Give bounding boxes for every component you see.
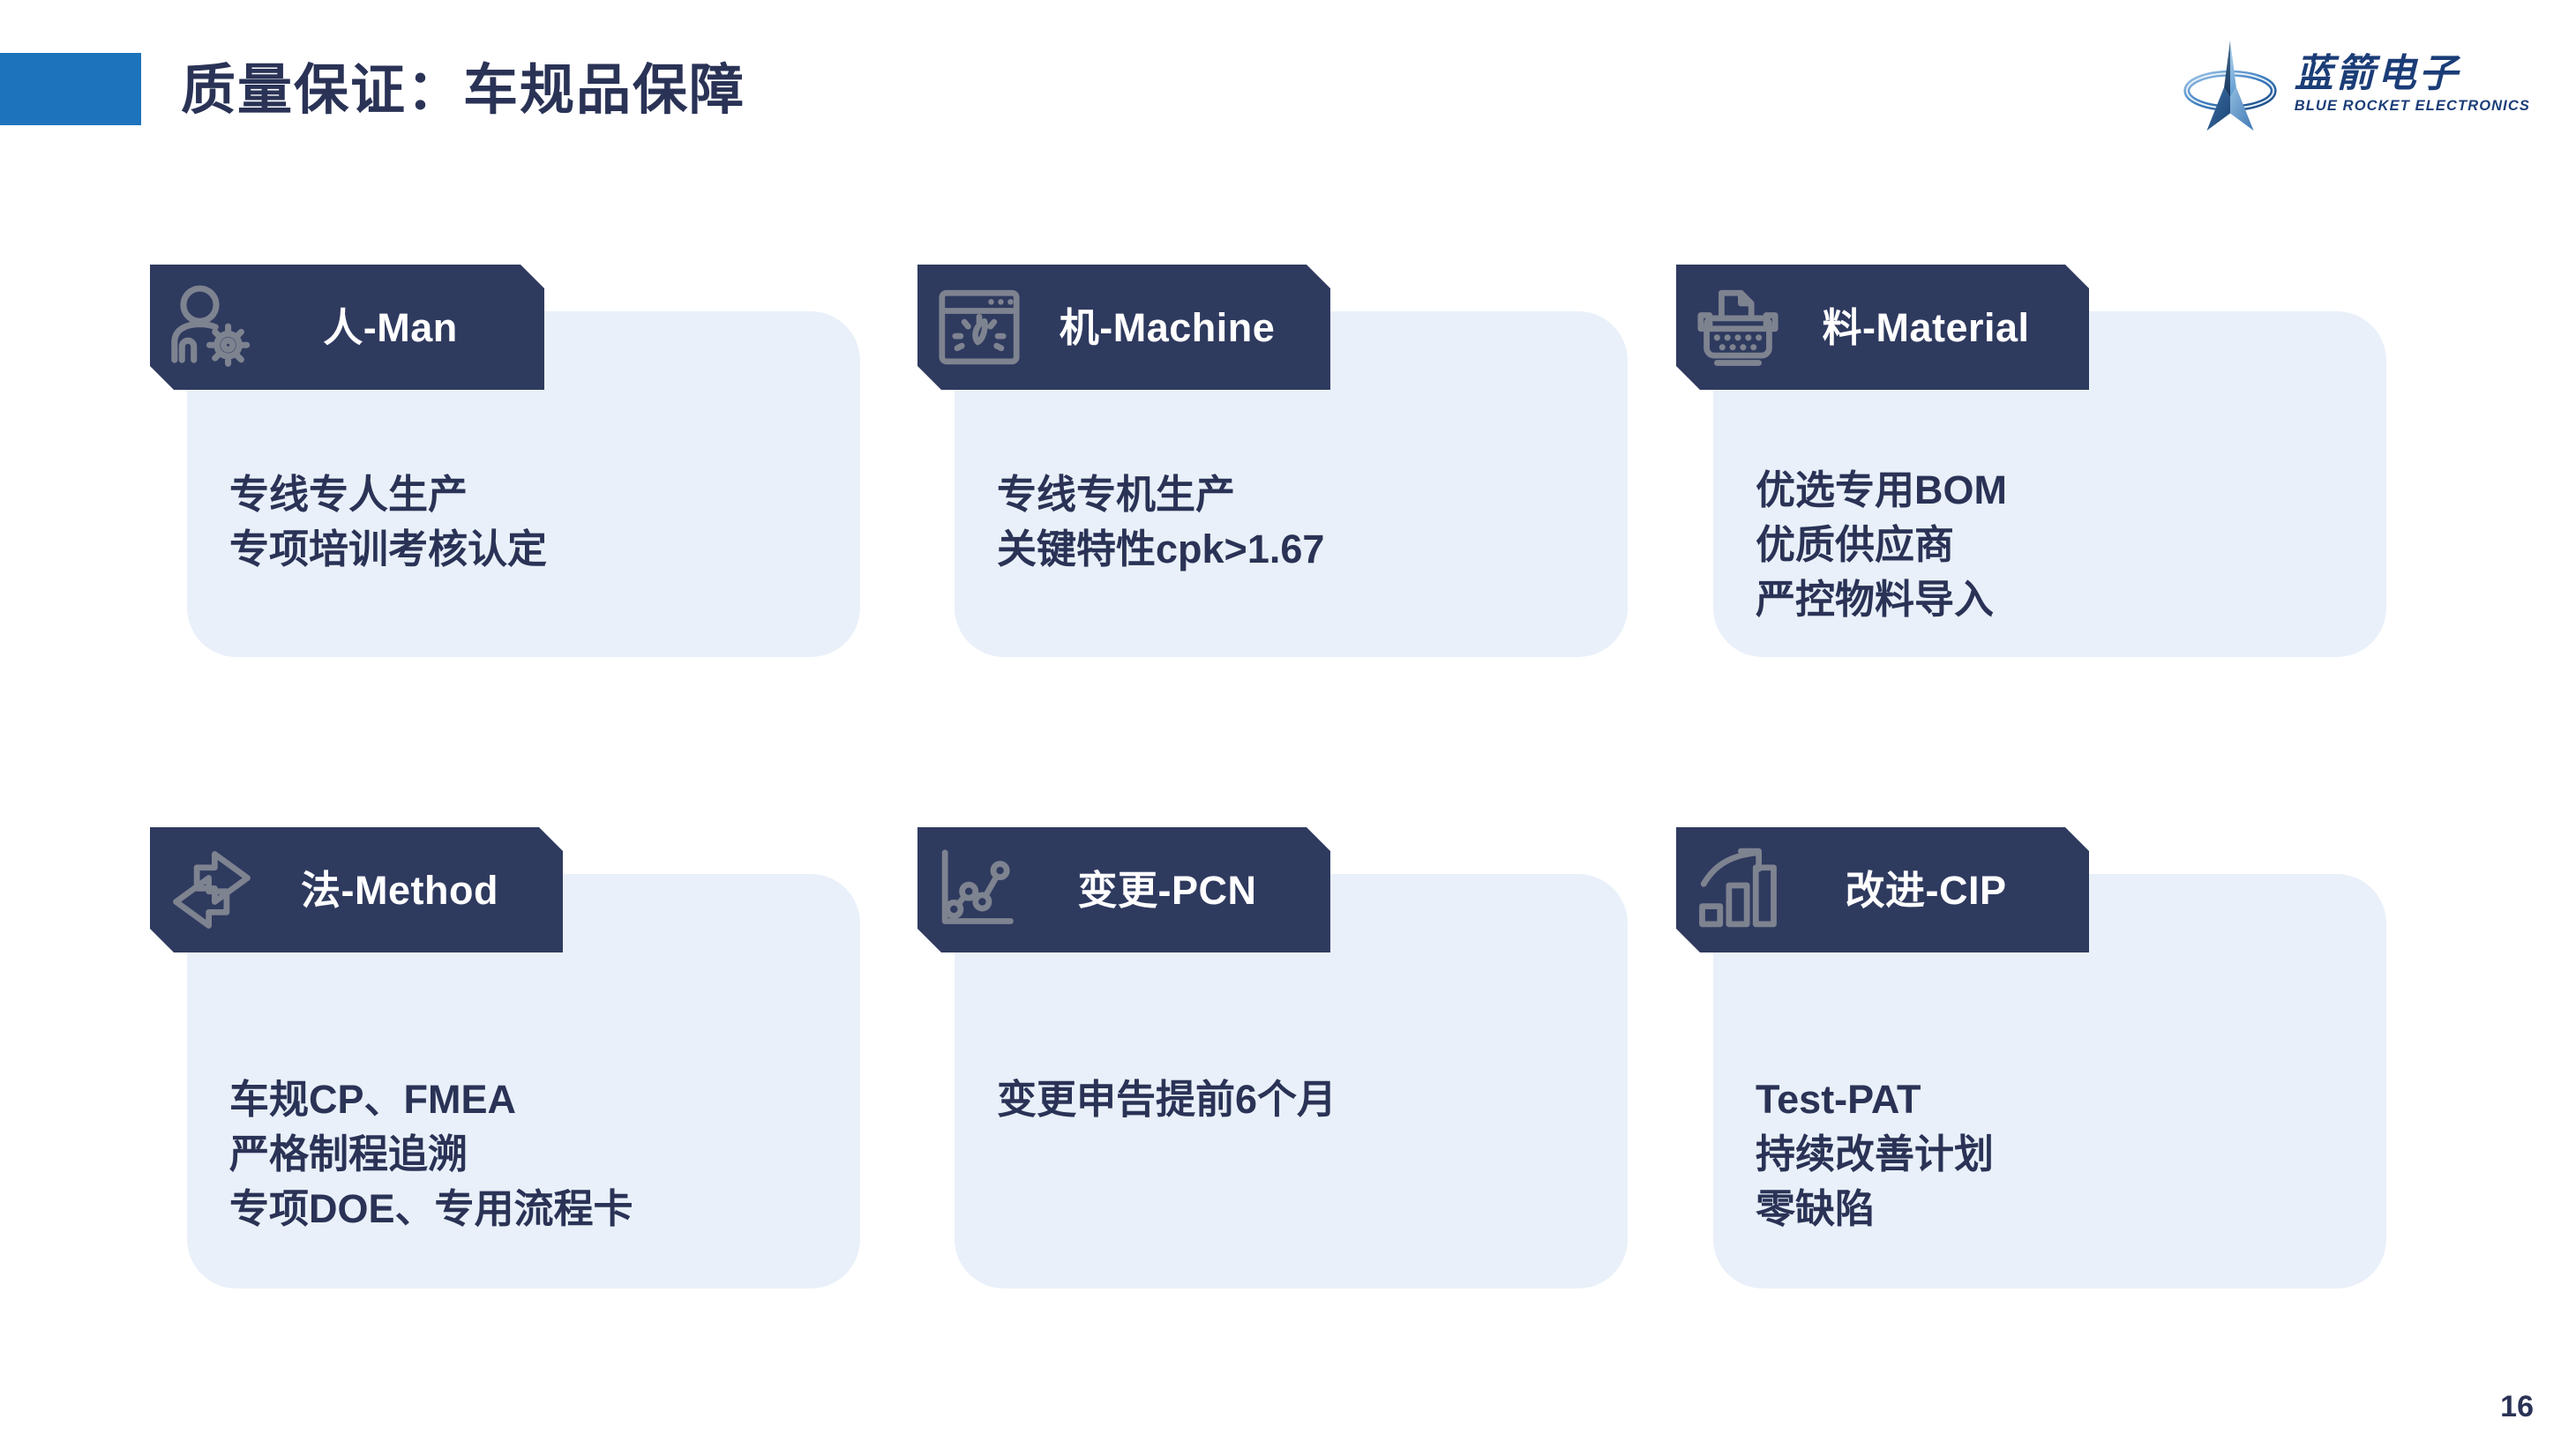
card-title-cip: 改进-CIP — [1786, 870, 2089, 910]
card-banner-material: 料-Material — [1676, 265, 2089, 390]
card-lines-material: 优选专用BOM 优质供应商 严控物料导入 — [1756, 463, 2007, 627]
card-title-machine: 机-Machine — [1027, 308, 1330, 347]
card-lines-method: 车规CP、FMEA 严格制程追溯 专项DOE、专用流程卡 — [229, 1072, 633, 1236]
bidirectional-arrows-icon — [164, 842, 259, 937]
card-banner-machine: 机-Machine — [917, 265, 1330, 390]
card-line: 优质供应商 — [1756, 518, 2007, 572]
card-lines-pcn: 变更申告提前6个月 — [997, 1072, 1337, 1127]
growth-bar-chart-icon — [1690, 842, 1786, 937]
card-lines-machine: 专线专机生产 关键特性cpk>1.67 — [997, 467, 1324, 577]
typewriter-icon — [1690, 280, 1786, 375]
card-title-pcn: 变更-PCN — [1027, 870, 1330, 910]
card-lines-cip: Test-PAT 持续改善计划 零缺陷 — [1756, 1072, 1994, 1236]
card-banner-man: 人-Man — [150, 265, 544, 390]
line-chart-icon — [932, 842, 1027, 937]
card-line: 专项培训考核认定 — [229, 522, 547, 577]
card-line: 关键特性cpk>1.67 — [997, 522, 1324, 577]
gauge-monitor-icon — [932, 280, 1027, 375]
card-title-material: 料-Material — [1786, 308, 2089, 347]
card-line: 专项DOE、专用流程卡 — [229, 1182, 633, 1236]
card-line: Test-PAT — [1756, 1072, 1994, 1127]
card-line: 优选专用BOM — [1756, 463, 2007, 518]
card-line: 车规CP、FMEA — [229, 1072, 633, 1127]
card-line: 零缺陷 — [1756, 1182, 1994, 1236]
card-grid: 人-Man 专线专人生产 专项培训考核认定 机-Machine — [0, 0, 2576, 1449]
card-banner-method: 法-Method — [150, 827, 563, 952]
card-line: 变更申告提前6个月 — [997, 1072, 1337, 1127]
card-line: 持续改善计划 — [1756, 1127, 1994, 1182]
card-line: 专线专机生产 — [997, 467, 1324, 522]
card-line: 专线专人生产 — [229, 467, 547, 522]
card-lines-man: 专线专人生产 专项培训考核认定 — [229, 467, 547, 577]
card-banner-cip: 改进-CIP — [1676, 827, 2089, 952]
person-gear-icon — [164, 280, 259, 375]
card-title-method: 法-Method — [259, 870, 563, 910]
page-number: 16 — [2500, 1390, 2534, 1424]
card-banner-pcn: 变更-PCN — [917, 827, 1330, 952]
card-line: 严控物料导入 — [1756, 572, 2007, 627]
card-line: 严格制程追溯 — [229, 1127, 633, 1182]
card-title-man: 人-Man — [259, 308, 544, 347]
